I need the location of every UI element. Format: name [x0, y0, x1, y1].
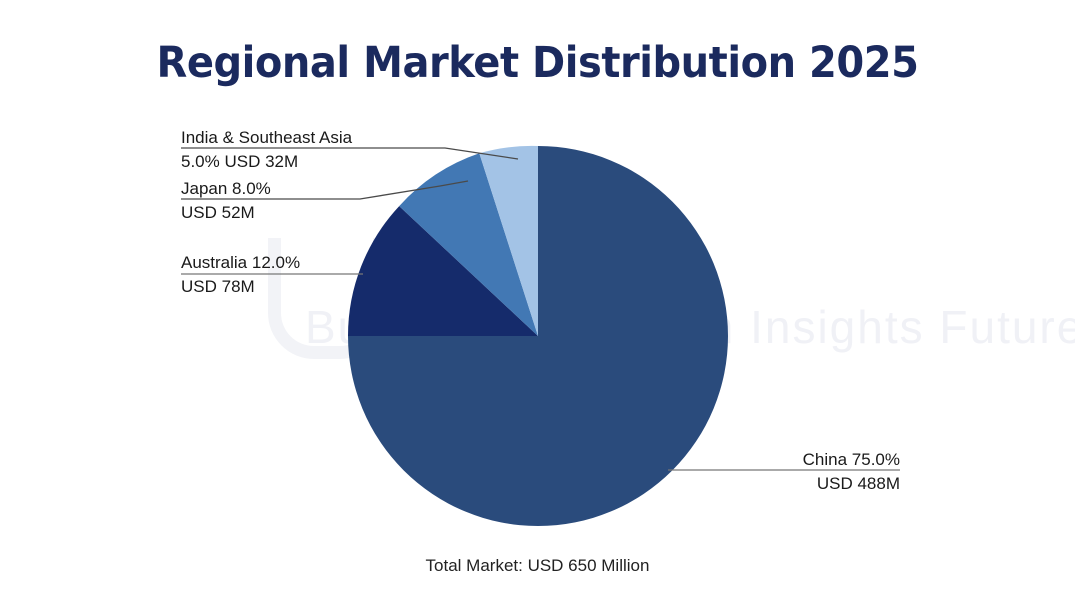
callout-china: China 75.0% USD 488M — [803, 448, 900, 496]
callout-australia-line1: Australia 12.0% — [181, 251, 300, 275]
callout-india-line1: India & Southeast Asia — [181, 126, 352, 150]
callout-india-line2: 5.0% USD 32M — [181, 150, 352, 174]
callout-china-line2: USD 488M — [803, 472, 900, 496]
chart-title: Regional Market Distribution 2025 — [38, 38, 1038, 88]
chart-total-footer: Total Market: USD 650 Million — [0, 556, 1075, 576]
callout-japan-line2: USD 52M — [181, 201, 271, 225]
pie-chart — [0, 0, 1075, 600]
callout-australia: Australia 12.0% USD 78M — [181, 251, 300, 299]
callout-india-southeast-asia: India & Southeast Asia 5.0% USD 32M — [181, 126, 352, 174]
callout-australia-line2: USD 78M — [181, 275, 300, 299]
callout-china-line1: China 75.0% — [803, 448, 900, 472]
callout-japan-line1: Japan 8.0% — [181, 177, 271, 201]
callout-japan: Japan 8.0% USD 52M — [181, 177, 271, 225]
